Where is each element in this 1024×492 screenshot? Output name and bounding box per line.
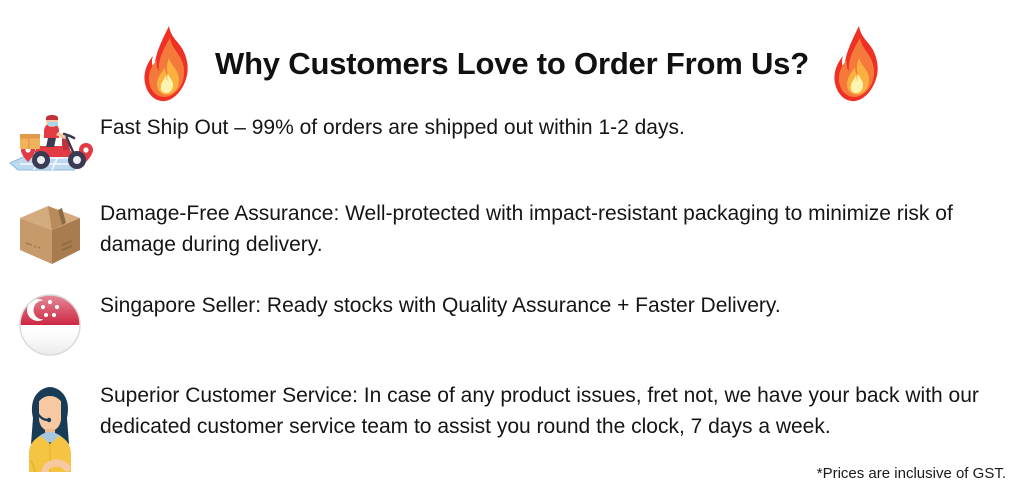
feature-icon-cell: [0, 290, 100, 358]
delivery-scooter-icon: [4, 114, 96, 176]
feature-list: Fast Ship Out – 99% of orders are shippe…: [0, 112, 1024, 490]
customer-service-agent-icon: [15, 382, 85, 472]
feature-text: Fast Ship Out – 99% of orders are shippe…: [100, 112, 701, 143]
header: Why Customers Love to Order From Us?: [0, 20, 1024, 108]
feature-icon-cell: [0, 112, 100, 176]
feature-text: Superior Customer Service: In case of an…: [100, 380, 1021, 442]
feature-icon-cell: [0, 380, 100, 472]
page-title: Why Customers Love to Order From Us?: [215, 46, 809, 82]
feature-icon-cell: [0, 198, 100, 270]
feature-text: Damage-Free Assurance: Well-protected wi…: [100, 198, 1021, 260]
feature-row-damage-free: Damage-Free Assurance: Well-protected wi…: [0, 198, 1024, 270]
gst-footnote: *Prices are inclusive of GST.: [817, 465, 1006, 482]
feature-text: Singapore Seller: Ready stocks with Qual…: [100, 290, 797, 321]
feature-row-singapore-seller: Singapore Seller: Ready stocks with Qual…: [0, 290, 1024, 358]
feature-row-customer-service: Superior Customer Service: In case of an…: [0, 380, 1024, 472]
fire-icon-left: [141, 24, 193, 104]
fire-icon-right: [831, 24, 883, 104]
feature-row-fast-ship: Fast Ship Out – 99% of orders are shippe…: [0, 112, 1024, 176]
cardboard-box-icon: [14, 200, 86, 270]
singapore-flag-icon: [17, 292, 83, 358]
